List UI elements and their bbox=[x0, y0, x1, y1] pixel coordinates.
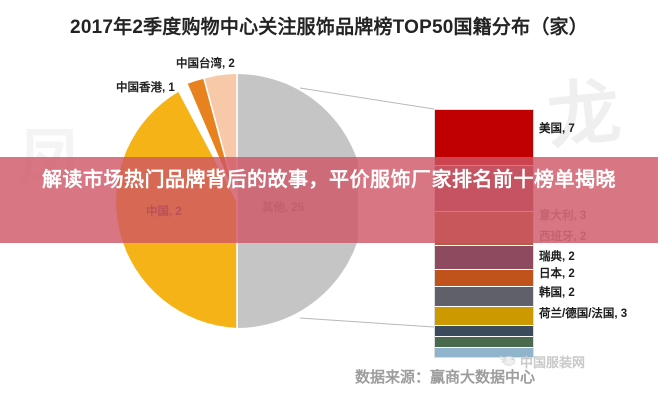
bar-label-5: 韩国, 2 bbox=[539, 284, 575, 300]
pie-label-hongkong: 中国香港, 1 bbox=[116, 79, 175, 95]
background-calligraphy-icon: 龙 bbox=[544, 74, 623, 153]
headline-text: 解读市场热门品牌背后的故事，平价服饰厂家排名前十榜单揭晓 bbox=[0, 160, 658, 200]
data-source-text: 数据来源：赢商大数据中心 bbox=[355, 366, 535, 387]
bar-label-4: 日本, 2 bbox=[539, 265, 575, 281]
bar-segment-7 bbox=[435, 326, 533, 337]
bar-segment-4 bbox=[435, 270, 533, 287]
bar-segment-8 bbox=[435, 337, 533, 348]
bar-segment-6 bbox=[435, 307, 533, 326]
bar-segment-5 bbox=[435, 287, 533, 307]
pie-label-taiwan: 中国台湾, 2 bbox=[176, 55, 235, 71]
chart-title: 2017年2季度购物中心关注服饰品牌榜TOP50国籍分布（家） bbox=[0, 12, 658, 39]
infographic-image: 龙 飞 凤 2017年2季度购物中心关注服饰品牌榜TOP50国籍分布（家） 中国… bbox=[0, 0, 658, 400]
bar-label-3: 瑞典, 2 bbox=[539, 248, 575, 264]
bar-label-0: 美国, 7 bbox=[539, 120, 575, 136]
bar-label-6: 荷兰/德国/法国, 3 bbox=[539, 305, 627, 321]
bar-segment-3 bbox=[435, 246, 533, 270]
bar-segment-9 bbox=[435, 348, 533, 357]
